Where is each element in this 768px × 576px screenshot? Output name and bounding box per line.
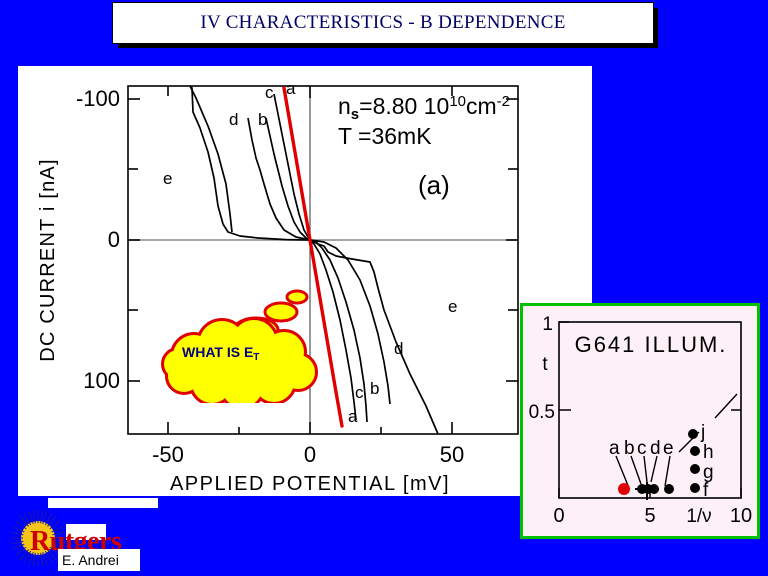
ns-unit-exponent: -2 (497, 93, 510, 110)
curve-label-b-bottom: b (370, 379, 379, 398)
cloud-bubble-small (287, 291, 307, 303)
inset-label-j: j (700, 422, 705, 443)
inset-label-c: c (637, 438, 647, 459)
curve-label-a-bottom: a (348, 407, 358, 426)
x-axis-ticks (168, 422, 452, 434)
inset-label-d: d (650, 438, 661, 459)
inset-x-axis-title: 1/ν (686, 506, 711, 527)
inset-point-g (690, 464, 700, 474)
inset-point-j (688, 429, 698, 439)
callout-text-main: WHAT IS E (182, 344, 253, 360)
ns-subscript: s (351, 106, 359, 123)
inset-point-e (664, 484, 674, 494)
inset-y-tick-1: 1 (542, 314, 553, 335)
x-tick-label-0: -50 (152, 442, 184, 467)
inset-label-h: h (703, 442, 714, 463)
x-axis-title: APPLIED POTENTIAL [mV] (170, 473, 450, 495)
main-figure-panel: -100 0 100 -50 0 50 APPLIED POTENTIAL [m… (18, 66, 592, 496)
inset-y-tick-0: 0.5 (529, 402, 555, 423)
inset-x-tick-2: 10 (730, 505, 752, 527)
curve-label-e-bottom: e (448, 297, 457, 316)
y-axis-ticks (128, 99, 140, 381)
annotation-density: ns=8.80 1010cm-2 (338, 93, 510, 123)
y-axis-ticks-right (506, 99, 518, 381)
slide-canvas: IV CHARACTERISTICS - B DEPENDENCE (0, 0, 768, 576)
curve-label-d-top: d (229, 110, 238, 129)
curve-e-upper (190, 86, 232, 232)
x-tick-label-1: 0 (304, 442, 316, 467)
inset-title: G641 ILLUM. (575, 332, 728, 357)
curve-label-c-top: c (265, 83, 274, 102)
inset-label-f: f (703, 480, 709, 501)
inset-t-vs-invnu-chart: G641 ILLUM. 1 0.5 t 0 5 10 1/ν (523, 306, 757, 536)
ns-exponent: 10 (449, 93, 466, 110)
inset-x-tick-1: 5 (644, 505, 655, 527)
page-title: IV CHARACTERISTICS - B DEPENDENCE (200, 12, 565, 34)
inset-point-a (618, 483, 630, 495)
y-tick-label-1: 0 (108, 227, 120, 252)
curve-label-d-bottom: d (394, 339, 403, 358)
ns-unit: cm (466, 93, 497, 119)
ns-prefix: n (338, 93, 351, 119)
annotation-temperature: T =36mK (338, 123, 432, 149)
panel-label: (a) (418, 170, 450, 200)
y-tick-label-2: 100 (83, 368, 120, 393)
iv-characteristics-chart: -100 0 100 -50 0 50 APPLIED POTENTIAL [m… (18, 66, 592, 496)
y-axis-title: DC CURRENT i [nA] (37, 158, 59, 361)
inset-label-a: a (609, 438, 620, 459)
curve-label-e-top: e (163, 169, 172, 188)
curve-label-b-top: b (258, 110, 267, 129)
inset-point-f (690, 483, 700, 493)
inset-y-axis-title: t (542, 354, 548, 375)
curve-label-c-bottom: c (355, 383, 364, 402)
inset-figure-panel: G641 ILLUM. 1 0.5 t 0 5 10 1/ν (520, 303, 760, 539)
x-tick-label-2: 50 (440, 442, 464, 467)
cloud-bubble-medium (265, 303, 297, 321)
callout-label: WHAT IS ET (182, 344, 259, 363)
callout-text-subscript: T (253, 352, 259, 363)
title-box: IV CHARACTERISTICS - B DEPENDENCE (112, 2, 654, 44)
svg-text:ns=8.80 1010cm-2: ns=8.80 1010cm-2 (338, 93, 510, 123)
inset-point-h (690, 446, 700, 456)
y-tick-label-0: -100 (76, 86, 120, 111)
inset-x-tick-0: 0 (553, 505, 564, 527)
inset-label-b: b (624, 438, 635, 459)
author-name: E. Andrei (58, 552, 119, 568)
curve-label-a-top: a (286, 79, 296, 98)
inset-label-g: g (703, 462, 714, 483)
callout-cloud: WHAT IS ET (156, 288, 336, 403)
inset-label-e: e (663, 438, 674, 459)
ns-value: =8.80 10 (359, 93, 449, 119)
author-box: E. Andrei (58, 549, 140, 571)
